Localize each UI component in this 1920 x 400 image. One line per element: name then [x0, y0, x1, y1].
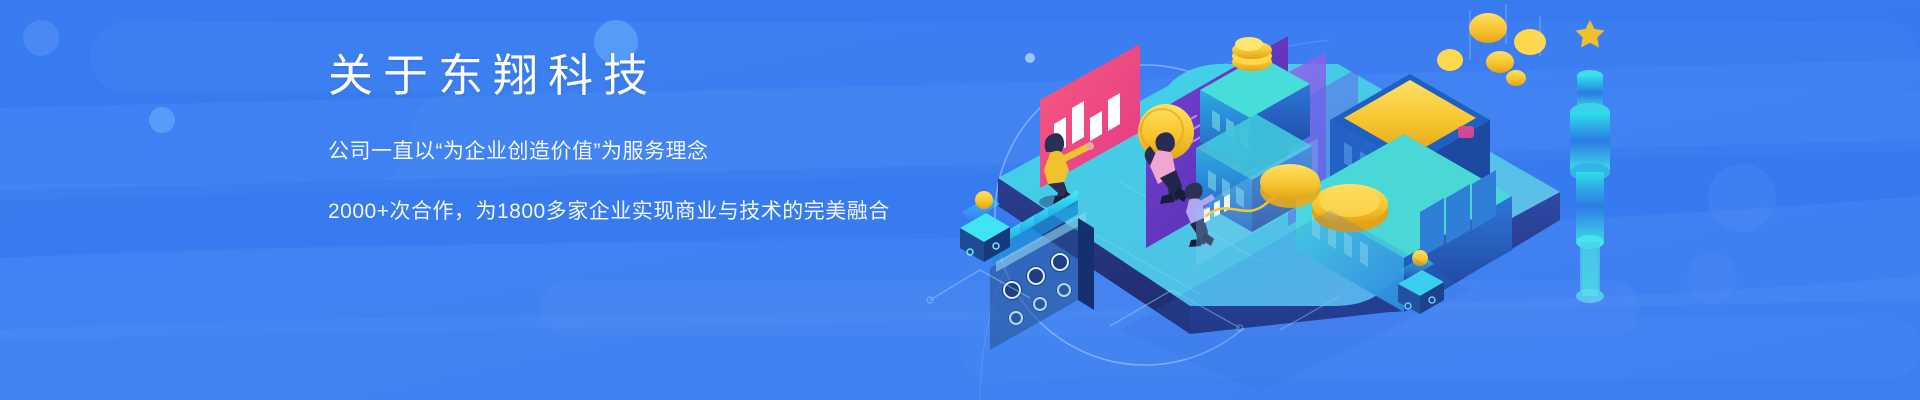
page-title: 关于东翔科技 [328, 52, 890, 99]
star-icon [1576, 20, 1605, 48]
isometric-fintech-illustration [0, 0, 1920, 400]
falling-coins [1437, 4, 1546, 86]
banner-subtitle-secondary: 2000+次合作，为1800多家企业实现商业与技术的完美融合 [328, 195, 890, 225]
antenna-tower-with-star [1570, 20, 1610, 303]
banner-subtitle-primary: 公司一直以“为企业创造价值”为服务理念 [328, 135, 890, 165]
banner-text-block: 关于东翔科技 公司一直以“为企业创造价值”为服务理念 2000+次合作，为180… [328, 52, 890, 225]
about-us-banner: 关于东翔科技 公司一直以“为企业创造价值”为服务理念 2000+次合作，为180… [0, 0, 1920, 400]
coins-on-tower [1232, 37, 1272, 71]
